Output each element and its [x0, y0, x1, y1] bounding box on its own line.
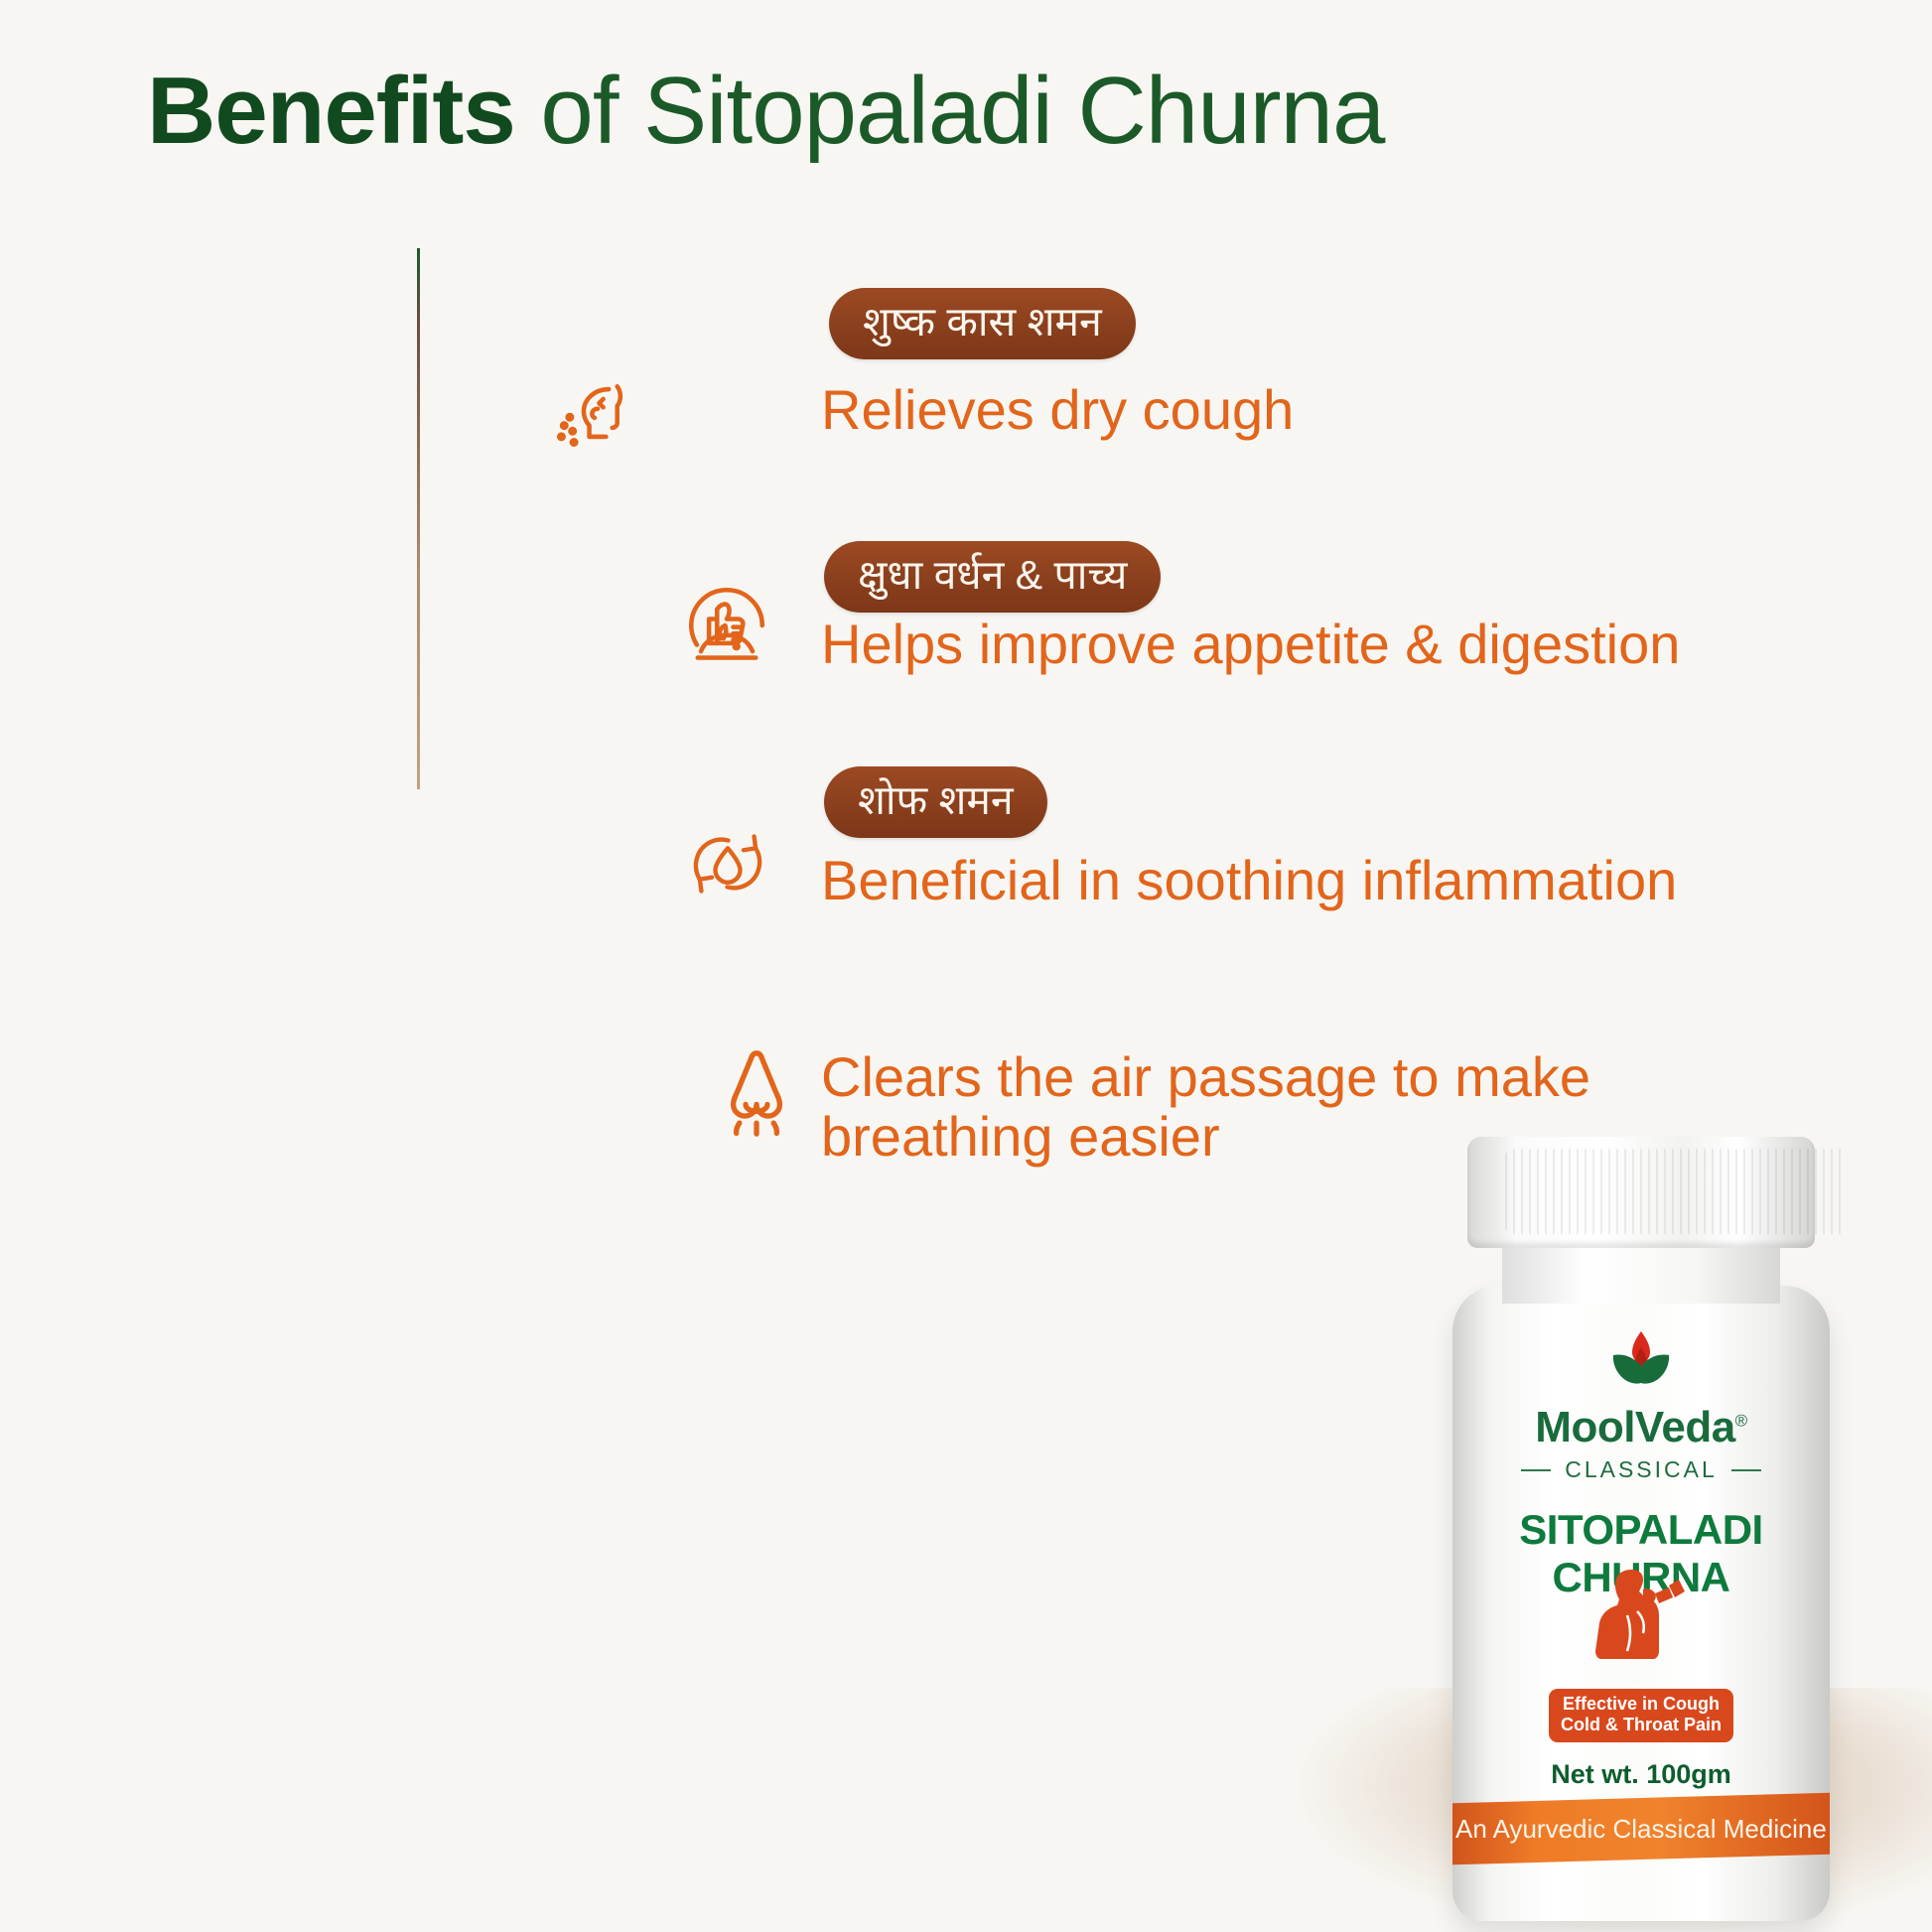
- brand-name: MoolVeda®: [1433, 1403, 1850, 1452]
- benefit-text-3: Beneficial in soothing inflammation: [821, 850, 1677, 912]
- effectiveness-line-1: Effective in Cough: [1561, 1694, 1722, 1715]
- page-title-bold: Benefits: [147, 58, 515, 164]
- moolveda-tulip-leaf-logo: [1595, 1325, 1687, 1408]
- product-bottle[interactable]: MoolVeda® CLASSICAL SITOPALADI CHURNA Ef…: [1433, 1137, 1850, 1921]
- benefit-text-1: Relieves dry cough: [821, 379, 1294, 442]
- effectiveness-line-2: Cold & Throat Pain: [1561, 1715, 1722, 1735]
- vertical-divider: [417, 248, 420, 789]
- divider-right: [1731, 1469, 1761, 1471]
- benefit-text-2: Helps improve appetite & digestion: [821, 614, 1680, 676]
- footer-band: An Ayurvedic Classical Medicine: [1452, 1793, 1830, 1865]
- man-drinking-icon: [1587, 1564, 1695, 1694]
- coughing-head-icon: [553, 375, 642, 470]
- poster-canvas: Benefits of Sitopaladi Churna शुष्क कास …: [0, 0, 1932, 1932]
- nose-breathing-icon: [707, 1040, 806, 1155]
- bottle-cap[interactable]: [1467, 1137, 1815, 1248]
- effectiveness-badge: Effective in Cough Cold & Throat Pain: [1549, 1689, 1733, 1742]
- page-title-rest: of Sitopaladi Churna: [515, 58, 1385, 164]
- divider-left: [1521, 1469, 1551, 1471]
- brand-subtitle-row: CLASSICAL: [1433, 1456, 1850, 1483]
- brand-subtitle: CLASSICAL: [1565, 1456, 1718, 1483]
- benefit-badge-3: शोफ शमन: [824, 766, 1047, 838]
- footer-band-text: An Ayurvedic Classical Medicine: [1455, 1814, 1827, 1845]
- brand-name-text: MoolVeda: [1535, 1403, 1734, 1451]
- thumbs-up-plate-icon: [675, 574, 778, 682]
- benefit-badge-1: शुष्क कास शमन: [829, 288, 1136, 359]
- benefit-badge-2: क्षुधा वर्धन & पाच्य: [824, 541, 1161, 613]
- bottle-neck: [1502, 1244, 1780, 1304]
- benefit-badge-label-2: क्षुधा वर्धन & पाच्य: [824, 541, 1161, 613]
- registered-mark: ®: [1735, 1411, 1747, 1430]
- page-title: Benefits of Sitopaladi Churna: [147, 62, 1384, 162]
- droplet-refresh-icon: [678, 814, 777, 918]
- benefit-badge-label-1: शुष्क कास शमन: [829, 288, 1136, 359]
- net-weight-text: Net wt. 100gm: [1433, 1759, 1850, 1790]
- benefit-badge-label-3: शोफ शमन: [824, 766, 1047, 838]
- cap-ribs: [1505, 1149, 1847, 1234]
